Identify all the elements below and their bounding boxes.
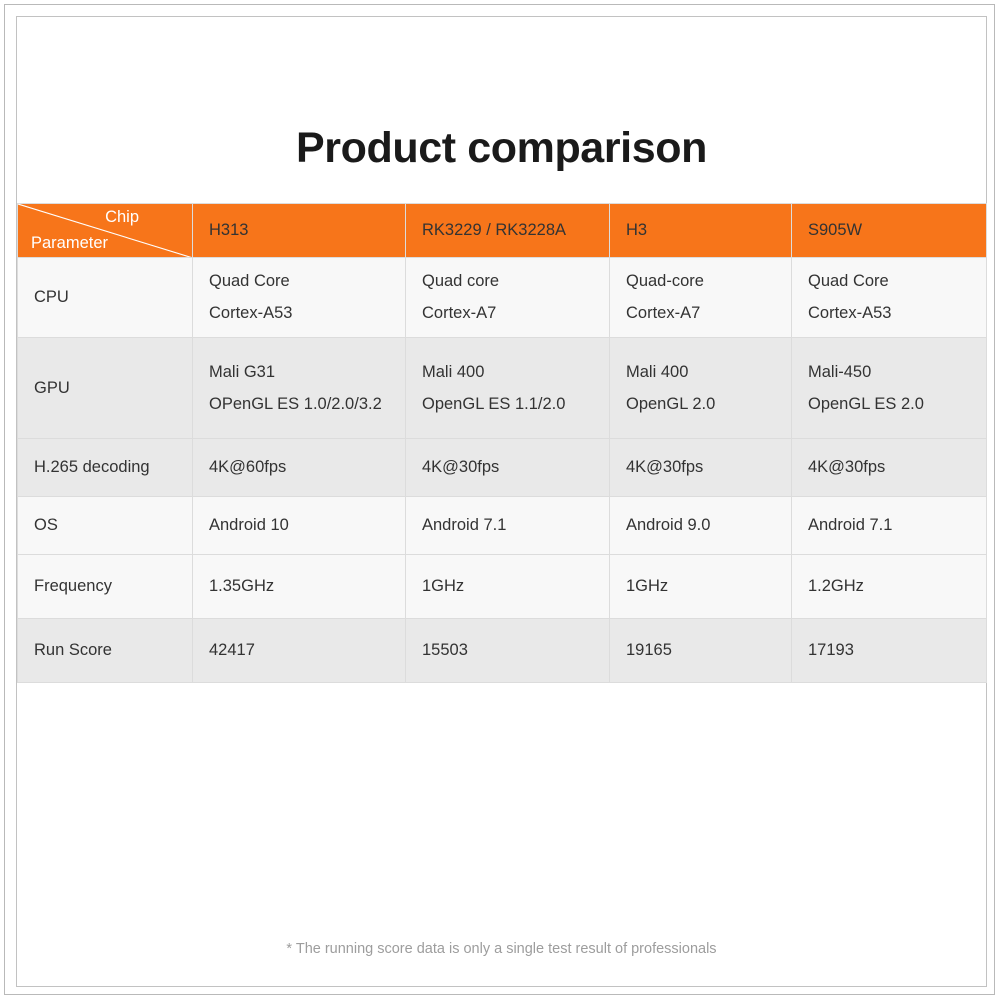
cell-frequency-rk3229: 1GHz xyxy=(406,555,610,619)
cell-os-s905w: Android 7.1 xyxy=(792,497,987,555)
cell-line-2: Cortex-A7 xyxy=(422,300,593,327)
content-frame: Product comparison C xyxy=(16,16,987,987)
cell-line-1: Quad Core xyxy=(808,272,889,290)
cell-line-1: Quad Core xyxy=(209,272,290,290)
row-parameter-frequency: Frequency xyxy=(18,555,193,619)
cell-line-2: OPenGL ES 1.0/2.0/3.2 xyxy=(209,391,389,418)
cell-gpu-h313: Mali G31 OPenGL ES 1.0/2.0/3.2 xyxy=(193,338,406,439)
cell-os-rk3229: Android 7.1 xyxy=(406,497,610,555)
cell-run-score-h313: 42417 xyxy=(193,619,406,683)
outer-frame: Product comparison C xyxy=(4,4,995,995)
cell-line-1: Mali 400 xyxy=(626,363,688,381)
header-chip-label: Chip xyxy=(105,208,139,227)
row-parameter-run-score: Run Score xyxy=(18,619,193,683)
cell-run-score-s905w: 17193 xyxy=(792,619,987,683)
cell-line-1: Quad-core xyxy=(626,272,704,290)
cell-line-1: Mali 400 xyxy=(422,363,484,381)
cell-line-2: OpenGL ES 2.0 xyxy=(808,391,970,418)
cell-h265-rk3229: 4K@30fps xyxy=(406,439,610,497)
row-parameter-h265-decoding: H.265 decoding xyxy=(18,439,193,497)
table-body: CPU Quad Core Cortex-A53 Quad core Corte… xyxy=(18,258,987,683)
comparison-table: Chip Parameter H313 RK3229 / RK3228A H3 … xyxy=(17,203,987,683)
table-row: Frequency 1.35GHz 1GHz 1GHz 1.2GHz xyxy=(18,555,987,619)
header-parameter-label: Parameter xyxy=(31,234,108,253)
table-row: Run Score 42417 15503 19165 17193 xyxy=(18,619,987,683)
cell-cpu-rk3229: Quad core Cortex-A7 xyxy=(406,258,610,338)
column-header-h3: H3 xyxy=(610,204,792,258)
cell-line-2: Cortex-A53 xyxy=(808,300,970,327)
column-header-rk3229: RK3229 / RK3228A xyxy=(406,204,610,258)
cell-gpu-h3: Mali 400 OpenGL 2.0 xyxy=(610,338,792,439)
cell-cpu-h3: Quad-core Cortex-A7 xyxy=(610,258,792,338)
cell-line-1: Mali G31 xyxy=(209,363,275,381)
table-row: H.265 decoding 4K@60fps 4K@30fps 4K@30fp… xyxy=(18,439,987,497)
cell-os-h313: Android 10 xyxy=(193,497,406,555)
cell-h265-h3: 4K@30fps xyxy=(610,439,792,497)
cell-frequency-h313: 1.35GHz xyxy=(193,555,406,619)
table-header: Chip Parameter H313 RK3229 / RK3228A H3 … xyxy=(18,204,987,258)
row-parameter-cpu: CPU xyxy=(18,258,193,338)
cell-line-2: OpenGL ES 1.1/2.0 xyxy=(422,391,593,418)
header-row: Chip Parameter H313 RK3229 / RK3228A H3 … xyxy=(18,204,987,258)
cell-h265-h313: 4K@60fps xyxy=(193,439,406,497)
column-header-h313: H313 xyxy=(193,204,406,258)
row-parameter-os: OS xyxy=(18,497,193,555)
row-parameter-gpu: GPU xyxy=(18,338,193,439)
cell-frequency-s905w: 1.2GHz xyxy=(792,555,987,619)
header-corner-cell: Chip Parameter xyxy=(18,204,193,258)
comparison-table-wrapper: Chip Parameter H313 RK3229 / RK3228A H3 … xyxy=(17,203,986,683)
cell-frequency-h3: 1GHz xyxy=(610,555,792,619)
cell-run-score-h3: 19165 xyxy=(610,619,792,683)
cell-line-1: Quad core xyxy=(422,272,499,290)
cell-h265-s905w: 4K@30fps xyxy=(792,439,987,497)
cell-os-h3: Android 9.0 xyxy=(610,497,792,555)
cell-gpu-rk3229: Mali 400 OpenGL ES 1.1/2.0 xyxy=(406,338,610,439)
cell-cpu-s905w: Quad Core Cortex-A53 xyxy=(792,258,987,338)
table-row: CPU Quad Core Cortex-A53 Quad core Corte… xyxy=(18,258,987,338)
cell-cpu-h313: Quad Core Cortex-A53 xyxy=(193,258,406,338)
column-header-s905w: S905W xyxy=(792,204,987,258)
cell-line-2: OpenGL 2.0 xyxy=(626,391,775,418)
cell-line-1: Mali-450 xyxy=(808,363,871,381)
table-row: GPU Mali G31 OPenGL ES 1.0/2.0/3.2 Mali … xyxy=(18,338,987,439)
cell-gpu-s905w: Mali-450 OpenGL ES 2.0 xyxy=(792,338,987,439)
cell-line-2: Cortex-A7 xyxy=(626,300,775,327)
cell-run-score-rk3229: 15503 xyxy=(406,619,610,683)
cell-line-2: Cortex-A53 xyxy=(209,300,389,327)
footnote: * The running score data is only a singl… xyxy=(17,941,986,957)
page-title: Product comparison xyxy=(17,124,986,173)
table-row: OS Android 10 Android 7.1 Android 9.0 An… xyxy=(18,497,987,555)
